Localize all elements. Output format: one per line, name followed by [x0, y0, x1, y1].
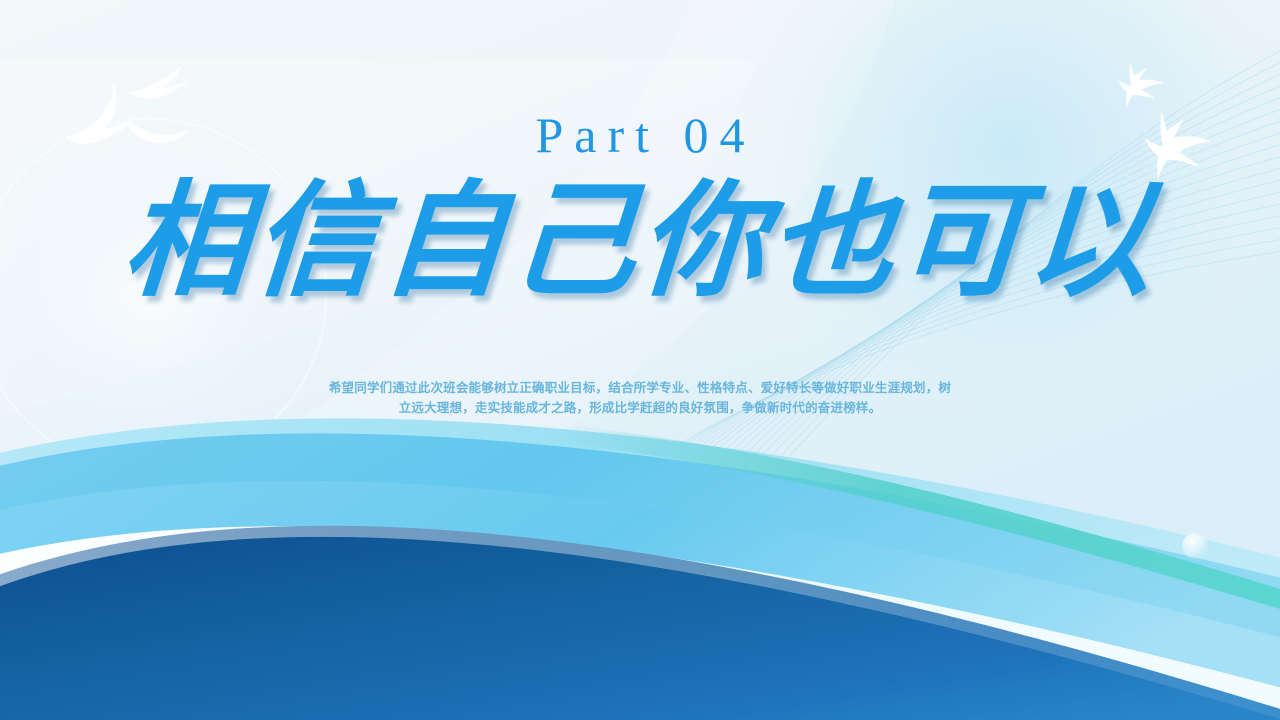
page-title: 相信自己你也可以: [0, 178, 1280, 306]
slide-content: Part 04 相信自己你也可以 希望同学们通过此次班会能够树立正确职业目标，结…: [0, 0, 1280, 720]
slide-canvas: Part 04 相信自己你也可以 希望同学们通过此次班会能够树立正确职业目标，结…: [0, 0, 1280, 720]
section-label: Part 04: [0, 110, 1280, 160]
subtitle-paragraph: 希望同学们通过此次班会能够树立正确职业目标，结合所学专业、性格特点、爱好特长等做…: [328, 378, 952, 418]
